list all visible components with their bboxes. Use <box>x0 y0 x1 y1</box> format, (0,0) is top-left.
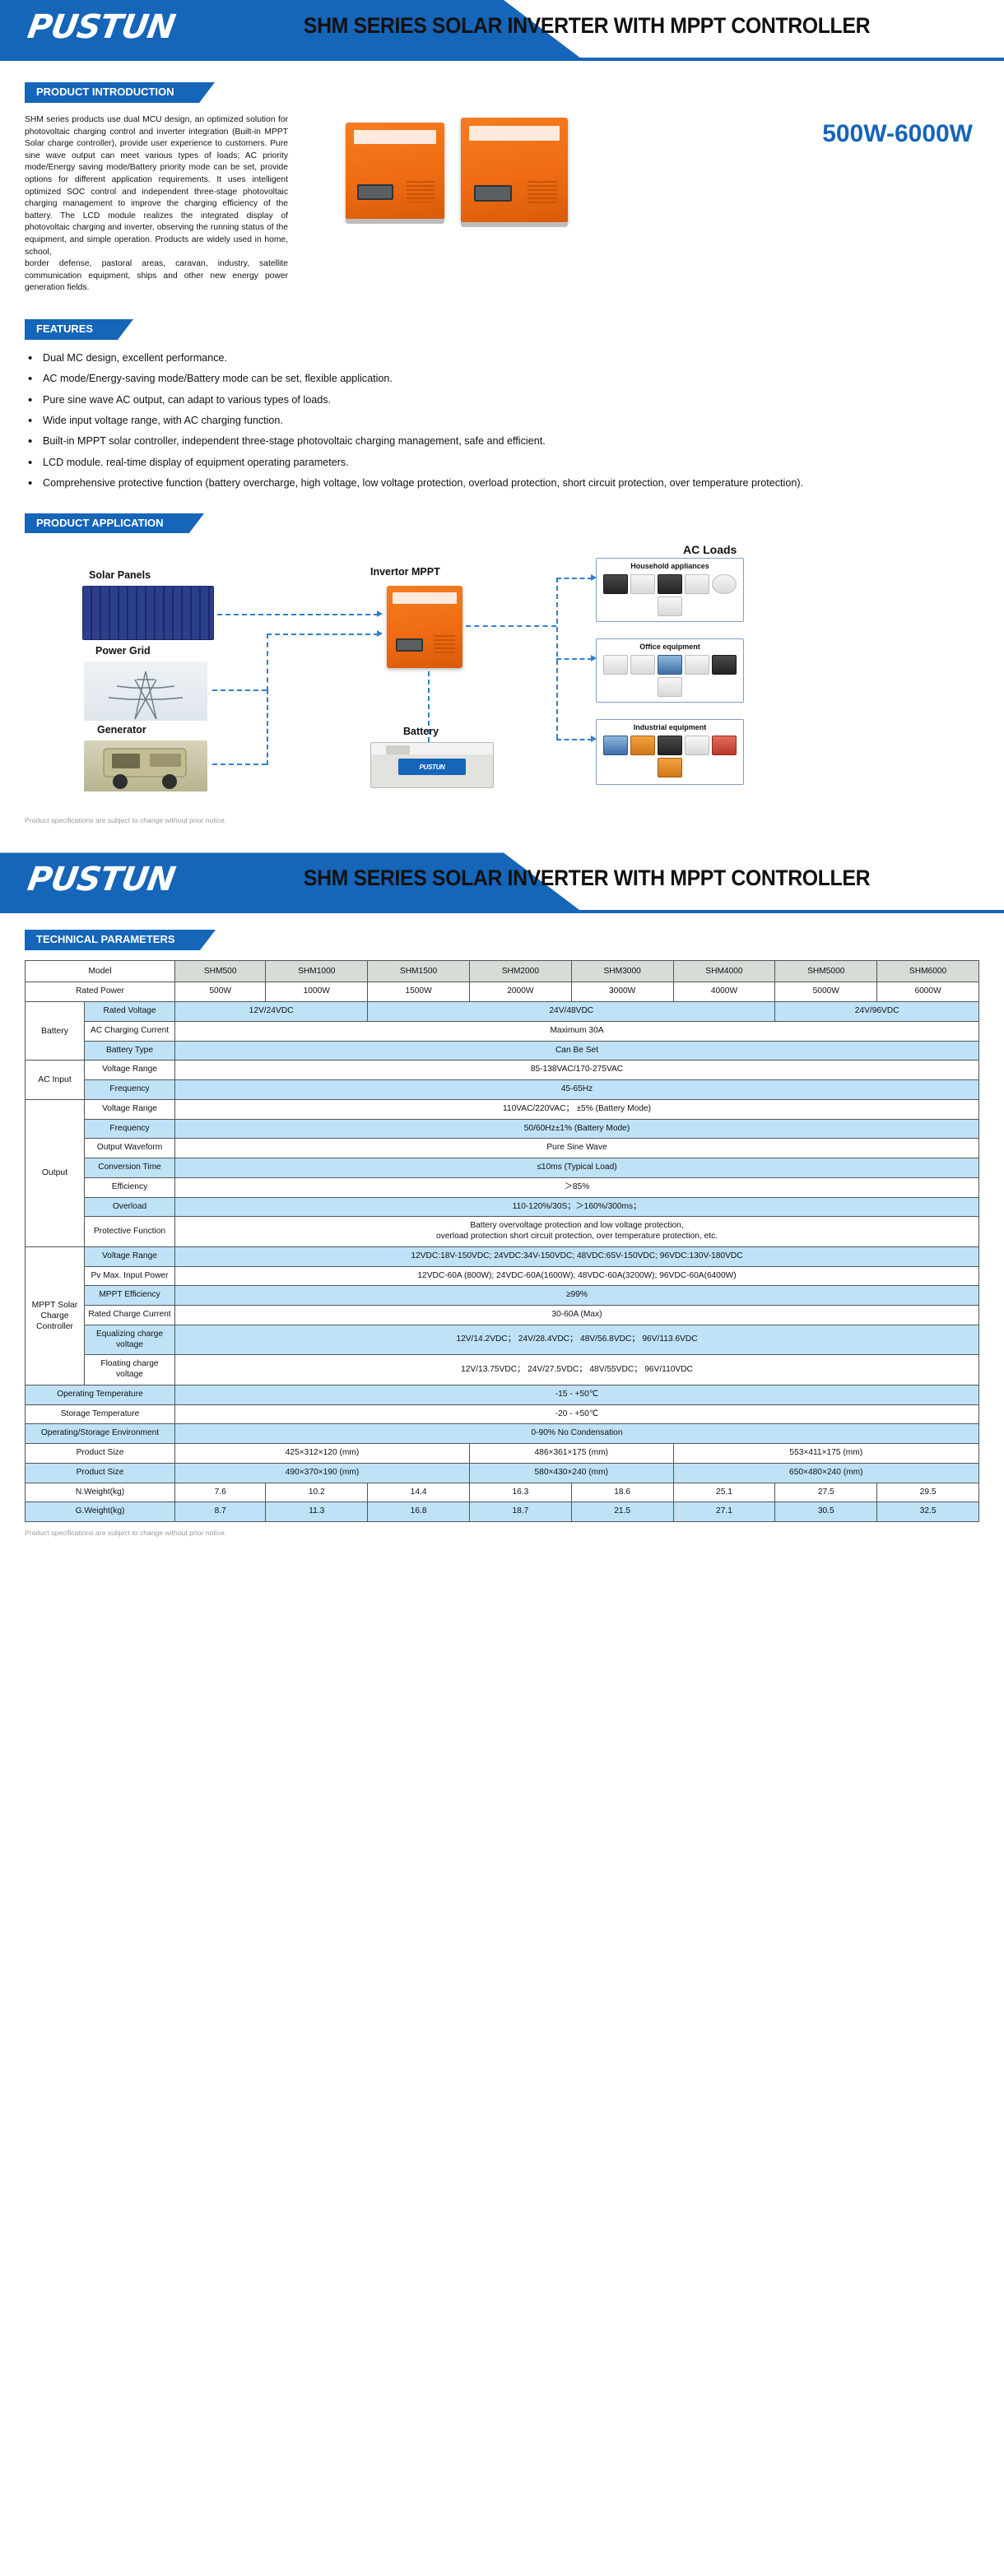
features-list: Dual MC design, excellent performance. A… <box>25 351 979 490</box>
cell-label: Equalizing charge voltage <box>85 1325 175 1355</box>
appliance-tv-icon <box>603 574 628 594</box>
inverter-vents <box>407 181 435 202</box>
appliance-grinder-icon <box>603 736 628 755</box>
cell-label: Operating Temperature <box>26 1385 175 1404</box>
connector-generator-to-bus <box>212 764 267 765</box>
feature-item: Pure sine wave AC output, can adapt to v… <box>25 393 979 406</box>
cell-value: 4000W <box>673 982 775 1002</box>
intro-paragraph-2: border defense, pastoral areas, caravan,… <box>25 258 288 295</box>
label-inverter: Invertor MPPT <box>370 566 440 578</box>
cell-value: 14.4 <box>368 1483 470 1502</box>
cell-value: -20 - +50℃ <box>175 1404 979 1424</box>
banner-underline <box>0 58 1004 61</box>
cell-value: 16.8 <box>368 1502 470 1522</box>
generator-icon <box>84 740 207 791</box>
disclaimer-page-two: Product specifications are subject to ch… <box>0 1529 1004 1537</box>
cell-value: 45-65Hz <box>175 1080 979 1100</box>
cell-value: ＞85% <box>175 1177 979 1197</box>
cell-value: 32.5 <box>877 1502 979 1522</box>
table-row-efficiency: Efficiency ＞85% <box>26 1177 979 1197</box>
arrowhead-icon <box>377 630 383 637</box>
cell-value: -15 - +50℃ <box>175 1385 979 1404</box>
feature-item: LCD module. real-time display of equipme… <box>25 456 979 469</box>
load-box-office: Office equipment <box>596 638 744 703</box>
cell-value: ≥99% <box>175 1286 979 1306</box>
cell-label: Rated Power <box>26 982 175 1002</box>
transmission-tower-icon <box>84 661 207 721</box>
table-row-output-frequency: Frequency 50/60Hz±1% (Battery Mode) <box>26 1119 979 1139</box>
connector-loads-office <box>556 658 593 660</box>
page-header-banner: PUSTUN SHM SERIES SOLAR INVERTER WITH MP… <box>0 852 1004 917</box>
load-box-title: Office equipment <box>597 639 743 652</box>
table-row-product-size: Product Size 425×312×120 (mm) 486×361×17… <box>26 1444 979 1464</box>
page-header-banner: PUSTUN SHM SERIES SOLAR INVERTER WITH MP… <box>0 0 1004 64</box>
feature-item: Comprehensive protective function (batte… <box>25 476 979 490</box>
cell-model: SHM1000 <box>266 961 368 982</box>
table-row-model: Model SHM500 SHM1000 SHM1500 SHM2000 SHM… <box>26 961 979 982</box>
cell-value: 2000W <box>469 982 571 1002</box>
intro-body: SHM series products use dual MCU design,… <box>25 114 979 295</box>
appliance-fan-icon <box>712 574 737 594</box>
cell-value: 1000W <box>266 982 368 1002</box>
page-two: PUSTUN SHM SERIES SOLAR INVERTER WITH MP… <box>0 852 1004 1537</box>
cell-value: Pure Sine Wave <box>175 1139 979 1158</box>
cell-value: Maximum 30A <box>175 1021 979 1041</box>
features-section: FEATURES Dual MC design, excellent perfo… <box>0 319 1004 490</box>
cell-group-battery: Battery <box>26 1002 85 1061</box>
label-battery: Battery <box>403 726 439 737</box>
cell-label: Voltage Range <box>85 1246 175 1266</box>
table-row-ac-charging-current: AC Charging Current Maximum 30A <box>26 1021 979 1041</box>
cell-value-multiline: Battery overvoltage protection and low v… <box>175 1217 979 1247</box>
cell-label: Voltage Range <box>85 1099 175 1119</box>
section-label-application: PRODUCT APPLICATION <box>25 513 188 534</box>
cell-group-ac-input: AC Input <box>26 1061 85 1100</box>
cell-value: 12V/13.75VDC； 24V/27.5VDC； 48V/55VDC； 96… <box>175 1355 979 1385</box>
inverter-lcd <box>396 638 423 652</box>
table-row-overload: Overload 110-120%/30S；＞160%/300ms； <box>26 1197 979 1217</box>
cell-value: 12V/14.2VDC； 24V/28.4VDC； 48V/56.8VDC； 9… <box>175 1325 979 1355</box>
battery-brand-label: PUSTUN <box>398 759 467 776</box>
table-row-battery-rated-voltage: Battery Rated Voltage 12V/24VDC 24V/48VD… <box>26 1002 979 1022</box>
label-solar-panels: Solar Panels <box>89 569 151 581</box>
appliance-saw-icon <box>658 736 682 755</box>
cell-model: SHM6000 <box>877 961 979 982</box>
cell-label: Storage Temperature <box>26 1404 175 1424</box>
cell-value: 490×370×190 (mm) <box>175 1463 470 1483</box>
product-application-section: PRODUCT APPLICATION AC Loads Solar Panel… <box>0 513 1004 799</box>
cell-value: 650×480×240 (mm) <box>673 1463 978 1483</box>
appliance-compressor-icon <box>712 736 737 755</box>
cell-label: Voltage Range <box>85 1061 175 1080</box>
section-label-features: FEATURES <box>25 319 118 340</box>
cell-label: Floating charge voltage <box>85 1355 175 1385</box>
table-row-mppt-voltage-range: MPPT Solar Charge Controller Voltage Ran… <box>26 1246 979 1266</box>
cell-value: 7.6 <box>175 1483 266 1502</box>
table-row-ac-voltage-range: AC Input Voltage Range 85-138VAC/170-275… <box>26 1061 979 1080</box>
inverter-top-strip <box>354 130 437 144</box>
specifications-table: Model SHM500 SHM1000 SHM1500 SHM2000 SHM… <box>25 960 979 1522</box>
intro-flag-row: PRODUCT INTRODUCTION <box>25 82 979 103</box>
inverter-diagram-photo <box>387 586 462 668</box>
appliance-drill-icon <box>630 736 655 755</box>
cell-value: 11.3 <box>266 1502 368 1522</box>
cell-label: Pv Max. Input Power <box>85 1266 175 1286</box>
appliance-washer-icon <box>685 574 709 594</box>
table-row-storage-temperature: Storage Temperature -20 - +50℃ <box>26 1404 979 1424</box>
load-box-title: Household appliances <box>597 559 743 572</box>
table-row-output-voltage-range: Output Voltage Range 110VAC/220VAC； ±5% … <box>26 1099 979 1119</box>
cell-group-output: Output <box>26 1099 85 1246</box>
table-row-gross-weight: G.Weight(kg) 8.7 11.3 16.8 18.7 21.5 27.… <box>26 1502 979 1522</box>
banner-underline <box>0 910 1004 913</box>
table-row-rated-power: Rated Power 500W 1000W 1500W 2000W 3000W… <box>26 982 979 1002</box>
cell-label: Frequency <box>85 1119 175 1139</box>
load-box-items <box>597 572 743 621</box>
table-row-mppt-pv-max: Pv Max. Input Power 12VDC-60A (800W); 24… <box>26 1266 979 1286</box>
protective-line-1: Battery overvoltage protection and low v… <box>178 1221 976 1232</box>
feature-item: Dual MC design, excellent performance. <box>25 351 979 364</box>
appliance-projector-icon <box>712 655 737 675</box>
feature-item: Built-in MPPT solar controller, independ… <box>25 434 979 448</box>
cell-model: SHM1500 <box>368 961 470 982</box>
table-row-mppt-floating: Floating charge voltage 12V/13.75VDC； 24… <box>26 1355 979 1385</box>
appliance-scanner-icon <box>658 677 682 697</box>
label-ac-loads: AC Loads <box>683 543 737 556</box>
table-row-conversion-time: Conversion Time ≤10ms (Typical Load) <box>26 1158 979 1178</box>
inverter-top-strip <box>393 592 456 604</box>
cell-value: 24V/48VDC <box>368 1002 775 1022</box>
page-title: SHM SERIES SOLAR INVERTER WITH MPPT CONT… <box>212 866 962 891</box>
battery-photo: PUSTUN <box>370 742 494 788</box>
connector-solar-to-inverter <box>217 614 379 615</box>
product-photo-group <box>321 118 979 233</box>
cell-value: 27.1 <box>673 1502 775 1522</box>
cell-label: Product Size <box>26 1444 175 1464</box>
label-generator: Generator <box>97 724 146 736</box>
cell-label: Operating/Storage Environment <box>26 1424 175 1444</box>
table-row-net-weight: N.Weight(kg) 7.6 10.2 14.4 16.3 18.6 25.… <box>26 1483 979 1502</box>
cell-value: 24V/96VDC <box>775 1002 979 1022</box>
page-title: SHM SERIES SOLAR INVERTER WITH MPPT CONT… <box>212 13 962 39</box>
load-box-title: Industrial equipment <box>597 720 743 733</box>
connector-grid-top <box>267 634 379 635</box>
cell-model: SHM4000 <box>673 961 775 982</box>
protective-line-2: overload protection short circuit protec… <box>178 1232 976 1242</box>
connector-grid-to-inverter <box>212 689 267 691</box>
connector-inverter-to-loads <box>466 625 556 627</box>
cell-value: 486×361×175 (mm) <box>469 1444 673 1464</box>
cell-model: SHM500 <box>175 961 266 982</box>
section-label-introduction: PRODUCT INTRODUCTION <box>25 82 199 103</box>
table-row-protective-function: Protective Function Battery overvoltage … <box>26 1217 979 1247</box>
section-label-technical: TECHNICAL PARAMETERS <box>25 930 200 950</box>
cell-label: Protective Function <box>85 1217 175 1247</box>
technical-parameters-section: TECHNICAL PARAMETERS Model SHM500 SHM100… <box>0 930 1004 1522</box>
connector-loads-industrial <box>556 739 593 740</box>
feature-item: AC mode/Energy-saving mode/Battery mode … <box>25 372 979 385</box>
cell-value: 0-90% No Condensation <box>175 1424 979 1444</box>
inverter-top-strip <box>469 126 559 141</box>
cell-value: 8.7 <box>175 1502 266 1522</box>
cell-value: ≤10ms (Typical Load) <box>175 1158 979 1178</box>
inverter-base <box>346 219 444 224</box>
cell-label: G.Weight(kg) <box>26 1502 175 1522</box>
cell-label: Frequency <box>85 1080 175 1100</box>
appliance-copier-icon <box>685 655 709 675</box>
cell-model: SHM5000 <box>775 961 877 982</box>
application-diagram: AC Loads Solar Panels Power Grid Generat… <box>25 543 979 798</box>
connector-grid-vertical <box>267 634 268 691</box>
inverter-vents <box>528 181 557 204</box>
page-gap <box>0 824 1004 852</box>
cell-value: 50/60Hz±1% (Battery Mode) <box>175 1119 979 1139</box>
cell-label: Product Size <box>26 1463 175 1483</box>
cell-label: MPPT Efficiency <box>85 1286 175 1306</box>
cell-value: 30-60A (Max) <box>175 1306 979 1325</box>
cell-value: 12V/24VDC <box>175 1002 368 1022</box>
appliance-monitor-icon <box>603 655 628 675</box>
intro-paragraph-1: SHM series products use dual MCU design,… <box>25 114 288 258</box>
cell-value: 1500W <box>368 982 470 1002</box>
connector-battery-vertical <box>428 671 430 742</box>
cell-value: 21.5 <box>571 1502 673 1522</box>
inverter-photo-right <box>461 118 568 223</box>
appliance-cooker-icon <box>658 596 682 616</box>
connector-loads-household <box>556 578 593 579</box>
table-row-mppt-rated-charge: Rated Charge Current 30-60A (Max) <box>26 1306 979 1325</box>
cell-group-mppt: MPPT Solar Charge Controller <box>26 1246 85 1385</box>
inverter-lcd <box>474 185 513 202</box>
cell-value: 85-138VAC/170-275VAC <box>175 1061 979 1080</box>
cell-value: 18.6 <box>571 1483 673 1502</box>
cell-model: SHM3000 <box>571 961 673 982</box>
cell-model-header: Model <box>26 961 175 982</box>
appliance-fridge-icon <box>630 574 655 594</box>
appliance-printer-icon <box>630 655 655 675</box>
cell-value: 30.5 <box>775 1502 877 1522</box>
cell-value: 25.1 <box>673 1483 775 1502</box>
cell-value: 18.7 <box>469 1502 571 1522</box>
intro-text-block: SHM series products use dual MCU design,… <box>25 114 288 295</box>
inverter-photo-left <box>346 123 444 220</box>
cell-value: 425×312×120 (mm) <box>175 1444 470 1464</box>
table-row-mppt-equalizing: Equalizing charge voltage 12V/14.2VDC； 2… <box>26 1325 979 1355</box>
power-grid-photo <box>84 661 207 721</box>
cell-value: 110VAC/220VAC； ±5% (Battery Mode) <box>175 1099 979 1119</box>
cell-label: Rated Voltage <box>85 1002 175 1022</box>
disclaimer-page-one: Product specifications are subject to ch… <box>0 816 1004 824</box>
brand-logo: PUSTUN <box>25 8 177 46</box>
cell-label: Battery Type <box>85 1041 175 1061</box>
appliance-microwave-icon <box>658 574 682 594</box>
table-row-mppt-efficiency: MPPT Efficiency ≥99% <box>26 1286 979 1306</box>
cell-value: 6000W <box>877 982 979 1002</box>
cell-value: 500W <box>175 982 266 1002</box>
generator-photo <box>84 740 207 791</box>
solar-panel-photo <box>82 586 214 640</box>
cell-value: 110-120%/30S；＞160%/300ms； <box>175 1197 979 1217</box>
product-introduction-section: 500W-6000W PRODUCT INTRODUCTION SHM seri… <box>0 82 1004 295</box>
cell-label: Conversion Time <box>85 1158 175 1178</box>
appliance-pump-icon <box>658 758 682 777</box>
brand-logo: PUSTUN <box>25 861 177 898</box>
cell-label: Rated Charge Current <box>85 1306 175 1325</box>
inverter-vents <box>434 635 455 653</box>
page-one: PUSTUN SHM SERIES SOLAR INVERTER WITH MP… <box>0 0 1004 824</box>
cell-model: SHM2000 <box>469 961 571 982</box>
cell-value: 5000W <box>775 982 877 1002</box>
cell-label: Output Waveform <box>85 1139 175 1158</box>
inverter-base <box>461 222 568 227</box>
cell-value: 16.3 <box>469 1483 571 1502</box>
arrowhead-icon <box>377 610 383 617</box>
cell-label: N.Weight(kg) <box>26 1483 175 1502</box>
cell-value: 27.5 <box>775 1483 877 1502</box>
cell-value: Can Be Set <box>175 1041 979 1061</box>
cell-label: Efficiency <box>85 1177 175 1197</box>
cell-label: AC Charging Current <box>85 1021 175 1041</box>
table-row-ac-frequency: Frequency 45-65Hz <box>26 1080 979 1100</box>
load-box-items <box>597 733 743 782</box>
feature-item: Wide input voltage range, with AC chargi… <box>25 414 979 427</box>
label-power-grid: Power Grid <box>95 645 151 657</box>
cell-value: 580×430×240 (mm) <box>469 1463 673 1483</box>
cell-value: 553×411×175 (mm) <box>673 1444 978 1464</box>
cell-value: 29.5 <box>877 1483 979 1502</box>
cell-value: 12VDC-60A (800W); 24VDC-60A(1600W); 48VD… <box>175 1266 979 1286</box>
appliance-welder-icon <box>685 736 709 755</box>
cell-value: 3000W <box>571 982 673 1002</box>
cell-label: Overload <box>85 1197 175 1217</box>
table-row-operating-temperature: Operating Temperature -15 - +50℃ <box>26 1385 979 1404</box>
table-row-output-waveform: Output Waveform Pure Sine Wave <box>26 1139 979 1158</box>
load-box-household: Household appliances <box>596 558 744 622</box>
connector-generator-vertical <box>267 689 268 765</box>
inverter-lcd <box>357 184 393 200</box>
appliance-laptop-icon <box>658 655 682 675</box>
table-row-battery-type: Battery Type Can Be Set <box>26 1041 979 1061</box>
load-box-industrial: Industrial equipment <box>596 719 744 785</box>
cell-value: 12VDC:18V-150VDC; 24VDC:34V-150VDC; 48VD… <box>175 1246 979 1266</box>
table-row-environment: Operating/Storage Environment 0-90% No C… <box>26 1424 979 1444</box>
load-box-items <box>597 652 743 702</box>
battery-terminal-cap <box>386 745 411 754</box>
table-row-package-size: Product Size 490×370×190 (mm) 580×430×24… <box>26 1463 979 1483</box>
cell-value: 10.2 <box>266 1483 368 1502</box>
